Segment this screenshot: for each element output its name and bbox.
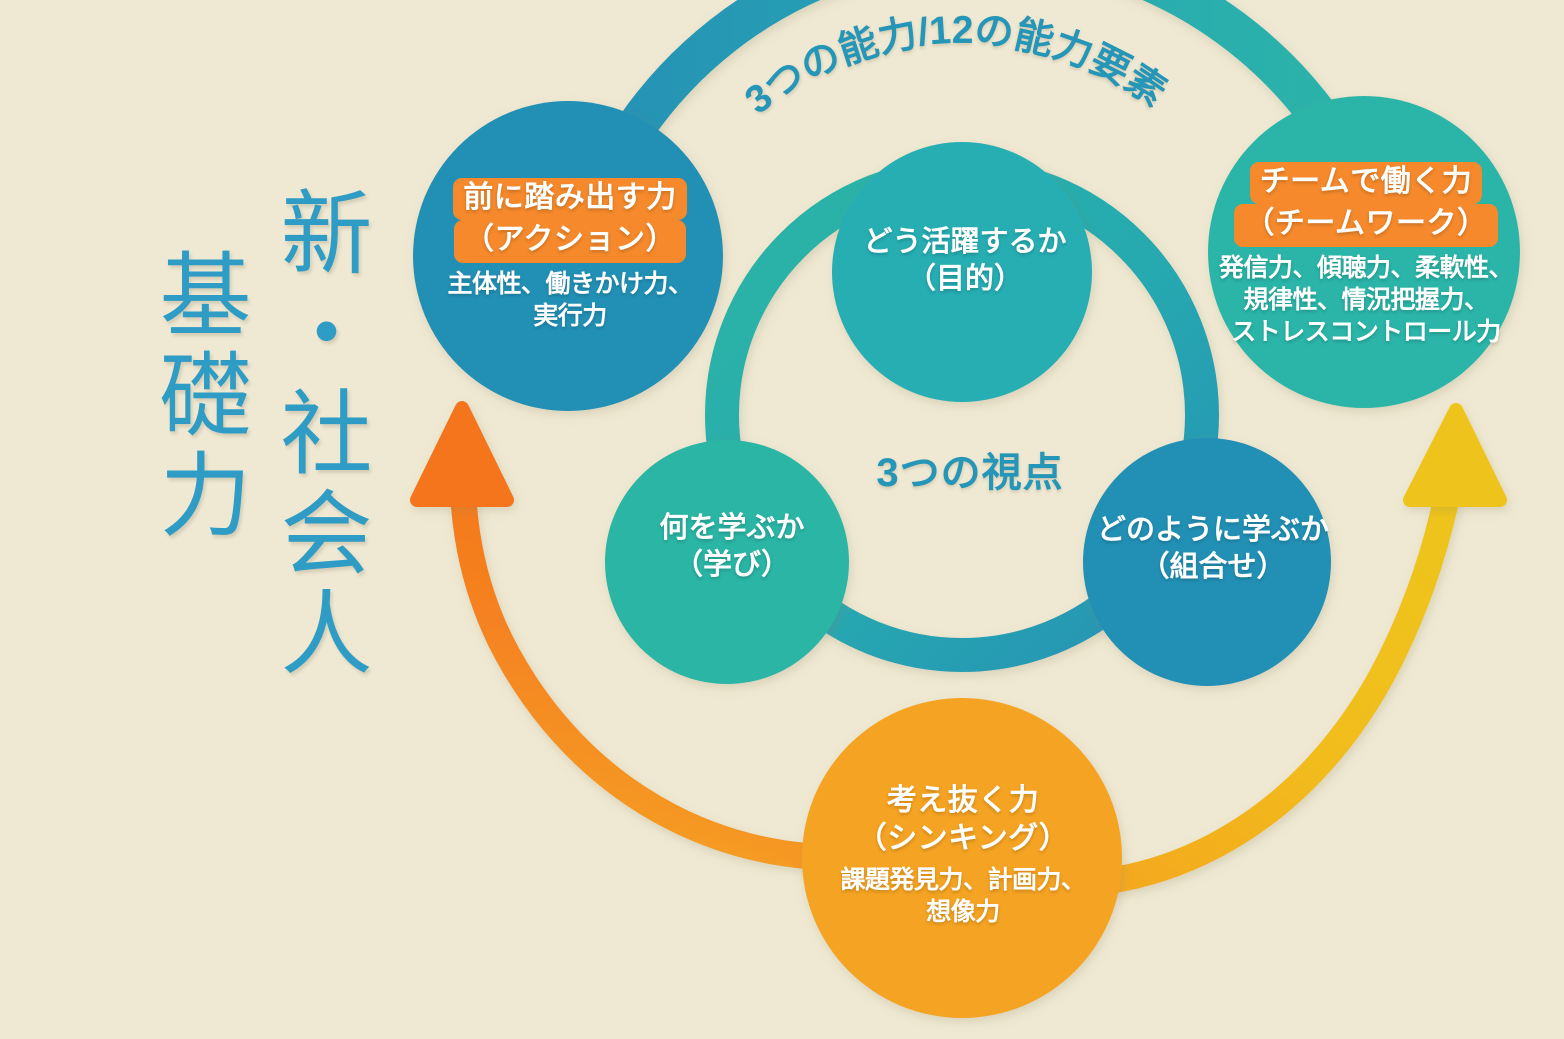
page-title-line-left: 基礎力	[146, 247, 249, 547]
page-title: 新・社会人 基礎力	[70, 185, 370, 835]
arc-caption: 3つの能力/12の能力要素	[737, 9, 1173, 123]
outer-circle-action	[413, 101, 723, 411]
inner-circle-learning	[605, 440, 849, 684]
page-title-line-right: 新・社会人	[267, 185, 370, 685]
arc-caption-textpath: 3つの能力/12の能力要素	[737, 9, 1173, 123]
outer-circle-thinking	[802, 698, 1122, 1018]
inner-circle-combination	[1083, 438, 1331, 686]
inner-circle-purpose	[832, 142, 1092, 402]
outer-circle-teamwork	[1208, 96, 1520, 408]
infographic-canvas: 3つの能力/12の能力要素 新・社会人 基礎力 前に踏み出す力 （アクション） …	[0, 0, 1564, 1039]
